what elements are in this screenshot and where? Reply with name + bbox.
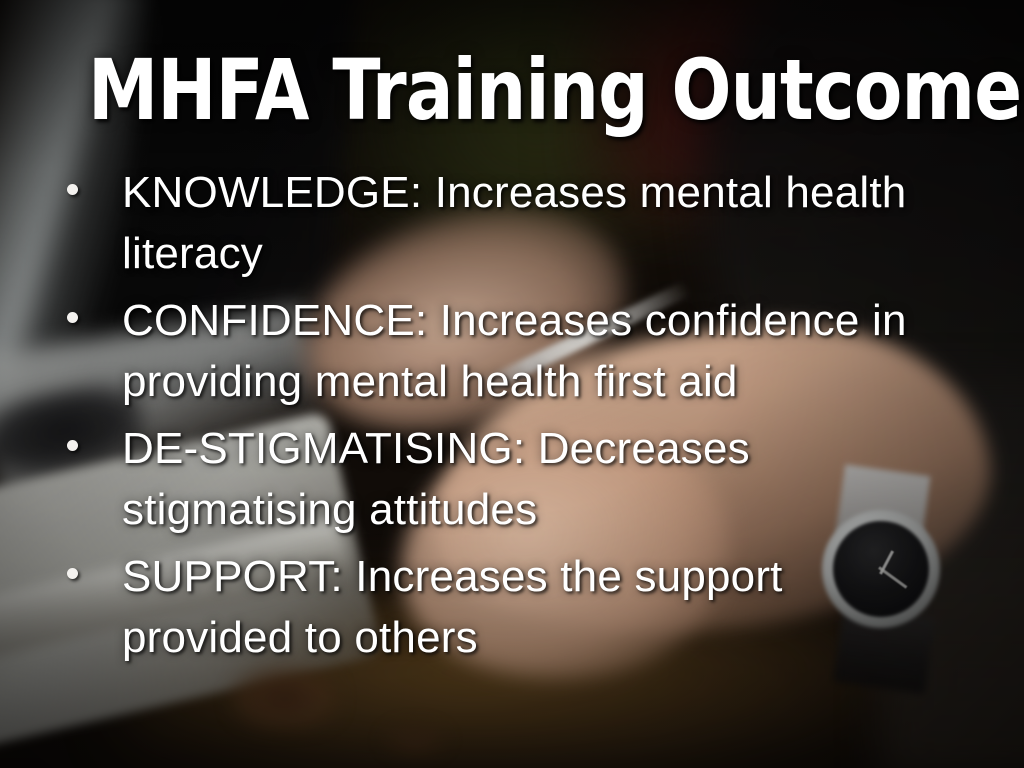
list-item: DE-STIGMATISING: Decreases stigmatising … bbox=[60, 418, 960, 540]
bullet-text: CONFIDENCE: Increases confidence in prov… bbox=[122, 290, 960, 412]
bullet-text: SUPPORT: Increases the support provided … bbox=[122, 546, 960, 668]
slide-title: MHFA Training Outcomes bbox=[88, 48, 1024, 132]
bullet-dot-icon bbox=[67, 568, 78, 579]
bullet-dot-icon bbox=[67, 184, 78, 195]
list-item: CONFIDENCE: Increases confidence in prov… bbox=[60, 290, 960, 412]
presentation-slide: MHFA Training Outcomes KNOWLEDGE: Increa… bbox=[0, 0, 1024, 768]
outcomes-bullet-list: KNOWLEDGE: Increases mental health liter… bbox=[60, 162, 960, 674]
list-item: KNOWLEDGE: Increases mental health liter… bbox=[60, 162, 960, 284]
bullet-dot-icon bbox=[67, 312, 78, 323]
list-item: SUPPORT: Increases the support provided … bbox=[60, 546, 960, 668]
bullet-dot-icon bbox=[67, 440, 78, 451]
bullet-text: DE-STIGMATISING: Decreases stigmatising … bbox=[122, 418, 960, 540]
slide-content: MHFA Training Outcomes KNOWLEDGE: Increa… bbox=[0, 0, 1024, 768]
bullet-text: KNOWLEDGE: Increases mental health liter… bbox=[122, 162, 960, 284]
